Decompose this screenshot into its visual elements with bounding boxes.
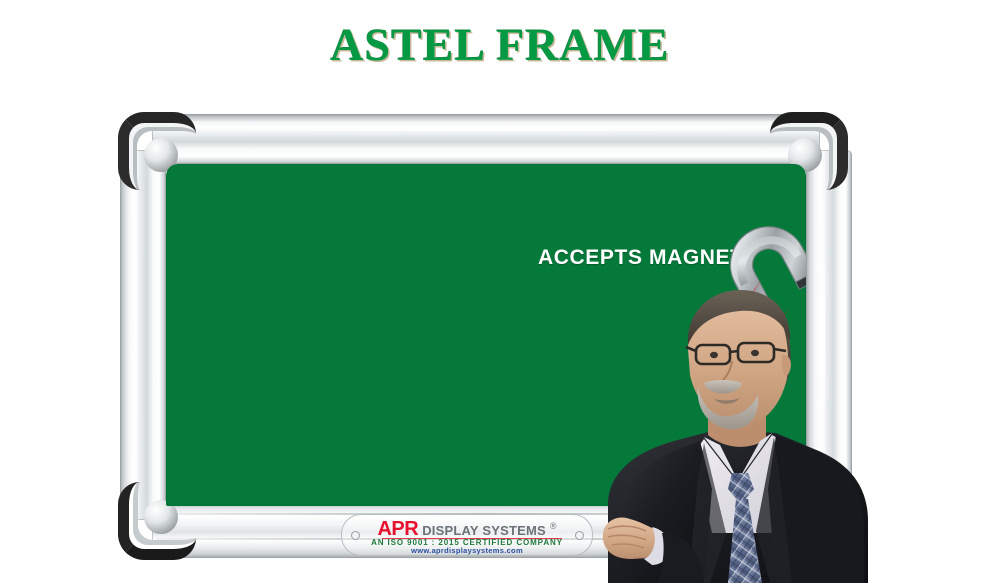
presenter-photo <box>600 283 930 583</box>
registered-trademark-icon: ® <box>550 521 557 531</box>
apr-website-text: www.aprdisplaysystems.com <box>342 546 592 555</box>
page-title: ASTEL FRAME <box>0 18 1000 71</box>
eye <box>710 352 718 358</box>
left-aluminium-rail <box>120 150 166 520</box>
apr-logo-badge: APR DISPLAY SYSTEMS ® AN ISO 9001 : 2015… <box>341 514 593 556</box>
accepts-magnet-label: ACCEPTS MAGNET <box>538 246 744 270</box>
eye <box>751 350 759 356</box>
apr-brand-suffix: DISPLAY SYSTEMS <box>422 523 546 538</box>
top-aluminium-rail <box>152 114 820 164</box>
page-canvas: ASTEL FRAME ACCEPTS MAGNET <box>0 0 1000 583</box>
